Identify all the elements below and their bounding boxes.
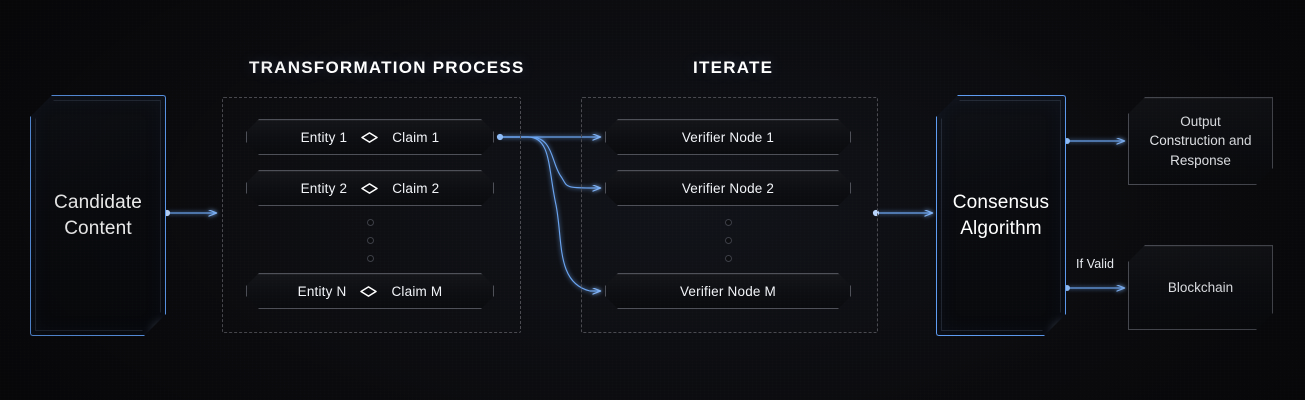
consensus-line1: Consensus (953, 190, 1049, 215)
entity-claim-row-2[interactable]: Entity 2 Claim 2 (246, 170, 494, 206)
diamond-icon (361, 183, 378, 194)
node-blockchain[interactable]: Blockchain (1128, 245, 1273, 330)
entity-label-3: Entity N (298, 284, 347, 299)
corner-accent-triangle-icon (153, 323, 164, 334)
verifier-node-3[interactable]: Verifier Node M (605, 273, 851, 309)
diamond-icon (360, 286, 377, 297)
verifier-node-label-3: Verifier Node M (680, 284, 776, 299)
consensus-line2: Algorithm (953, 216, 1049, 241)
edge-label-if-valid: If Valid (1076, 257, 1114, 271)
diagram-canvas: TRANSFORMATION PROCESS ITERATE Candidate… (0, 0, 1305, 400)
entity-claim-row-1[interactable]: Entity 1 Claim 1 (246, 119, 494, 155)
node-candidate-content[interactable]: Candidate Content (30, 95, 166, 336)
output-construction-line2: Construction and (1149, 131, 1251, 151)
section-title-iterate: ITERATE (693, 58, 773, 78)
claim-label-2: Claim 2 (392, 181, 439, 196)
verifier-node-label-2: Verifier Node 2 (682, 181, 774, 196)
candidate-content-line2: Content (54, 216, 142, 241)
entity-label-2: Entity 2 (301, 181, 348, 196)
section-title-transformation: TRANSFORMATION PROCESS (249, 58, 525, 78)
ellipsis-entities (367, 219, 374, 262)
output-construction-line3: Response (1149, 151, 1251, 171)
node-output-construction[interactable]: Output Construction and Response (1128, 97, 1273, 185)
candidate-content-line1: Candidate (54, 190, 142, 215)
verifier-node-label-1: Verifier Node 1 (682, 130, 774, 145)
entity-label-1: Entity 1 (301, 130, 348, 145)
node-consensus-algorithm[interactable]: Consensus Algorithm (936, 95, 1066, 336)
claim-label-3: Claim M (391, 284, 442, 299)
verifier-node-1[interactable]: Verifier Node 1 (605, 119, 851, 155)
claim-label-1: Claim 1 (392, 130, 439, 145)
entity-claim-row-3[interactable]: Entity N Claim M (246, 273, 494, 309)
output-construction-line1: Output (1149, 112, 1251, 132)
corner-accent-triangle-icon (1053, 323, 1064, 334)
ellipsis-verifiers (725, 219, 732, 262)
diamond-icon (361, 132, 378, 143)
verifier-node-2[interactable]: Verifier Node 2 (605, 170, 851, 206)
blockchain-label: Blockchain (1168, 278, 1233, 298)
